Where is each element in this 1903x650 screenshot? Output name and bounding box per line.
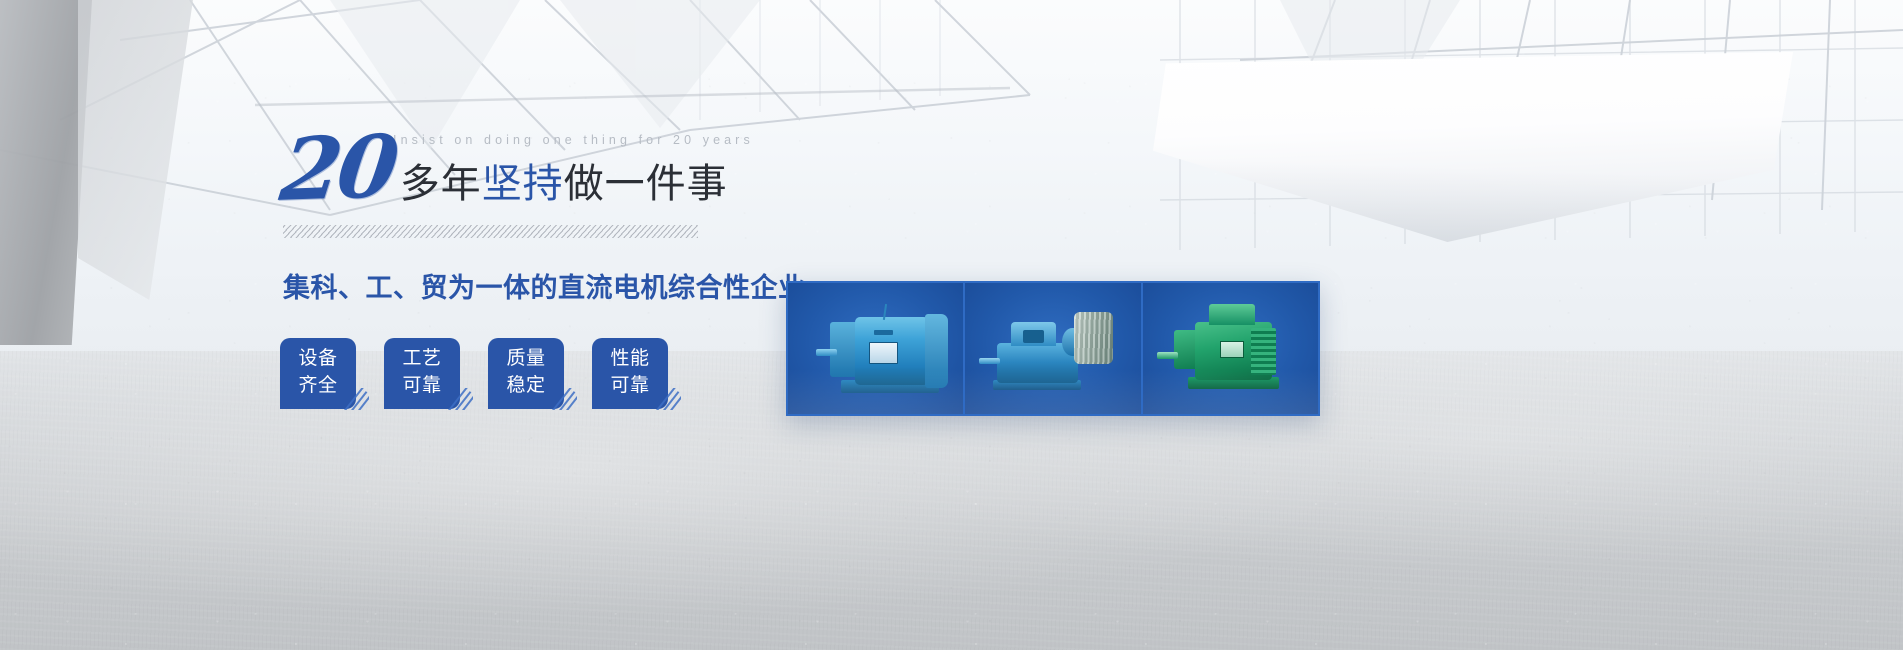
product-image-dc-motor-blue-blower[interactable] <box>965 283 1142 414</box>
motor-terminals-icon <box>874 330 893 335</box>
motor-nameplate-icon <box>869 342 899 364</box>
tag-ribbon-icon <box>551 388 577 410</box>
feature-tag-performance-reliable[interactable]: 性能 可靠 <box>592 338 668 409</box>
banner-copy-block: Insist on doing one thing for 20 years 2… <box>0 0 820 650</box>
motor-top-box-icon <box>1209 304 1255 325</box>
feature-tag-equipment-complete[interactable]: 设备 齐全 <box>280 338 356 409</box>
headline-chinese-part1: 多年 <box>400 162 482 206</box>
product-showcase-panel <box>786 281 1320 416</box>
motor-shaft-icon <box>816 349 837 357</box>
tag-ribbon-icon <box>655 388 681 410</box>
feature-tag-process-reliable[interactable]: 工艺 可靠 <box>384 338 460 409</box>
motor-terminal-box-icon <box>1023 330 1044 343</box>
motor-shaft-icon <box>979 358 1000 365</box>
motor-cooling-fins-icon <box>1251 328 1276 375</box>
headline-chinese-part2: 做一件事 <box>564 162 728 206</box>
hero-banner: Insist on doing one thing for 20 years 2… <box>0 0 1903 650</box>
feature-tag-line1: 工艺 <box>388 346 456 373</box>
headline-chinese: 多年坚持做一件事 <box>400 164 728 206</box>
banner-subtitle: 集科、工、贸为一体的直流电机综合性企业 <box>283 266 806 305</box>
tag-ribbon-icon <box>343 388 369 410</box>
feature-tag-line2: 可靠 <box>596 373 664 400</box>
feature-tag-line1: 性能 <box>596 346 664 373</box>
banner-headline: 20 多年坚持做一件事 <box>282 132 728 206</box>
headline-hatch-divider <box>283 225 698 238</box>
product-image-dc-motor-green[interactable] <box>1143 283 1318 414</box>
tag-ribbon-icon <box>447 388 473 410</box>
feature-tag-quality-stable[interactable]: 质量 稳定 <box>488 338 564 409</box>
feature-tag-line2: 稳定 <box>492 373 560 400</box>
feature-tag-line2: 齐全 <box>284 373 352 400</box>
feature-tag-line1: 设备 <box>284 346 352 373</box>
motor-shaft-icon <box>1157 352 1178 359</box>
product-image-dc-motor-blue-large[interactable] <box>788 283 965 414</box>
motor-fan-cover-icon <box>925 314 948 387</box>
headline-chinese-highlight: 坚持 <box>482 162 564 206</box>
feature-tag-list: 设备 齐全 工艺 可靠 质量 稳定 <box>280 338 668 409</box>
motor-air-filter-ribs-icon <box>1074 312 1113 364</box>
headline-number-20: 20 <box>277 130 398 208</box>
feature-tag-line2: 可靠 <box>388 373 456 400</box>
feature-tag-line1: 质量 <box>492 346 560 373</box>
motor-nameplate-icon <box>1220 341 1245 358</box>
